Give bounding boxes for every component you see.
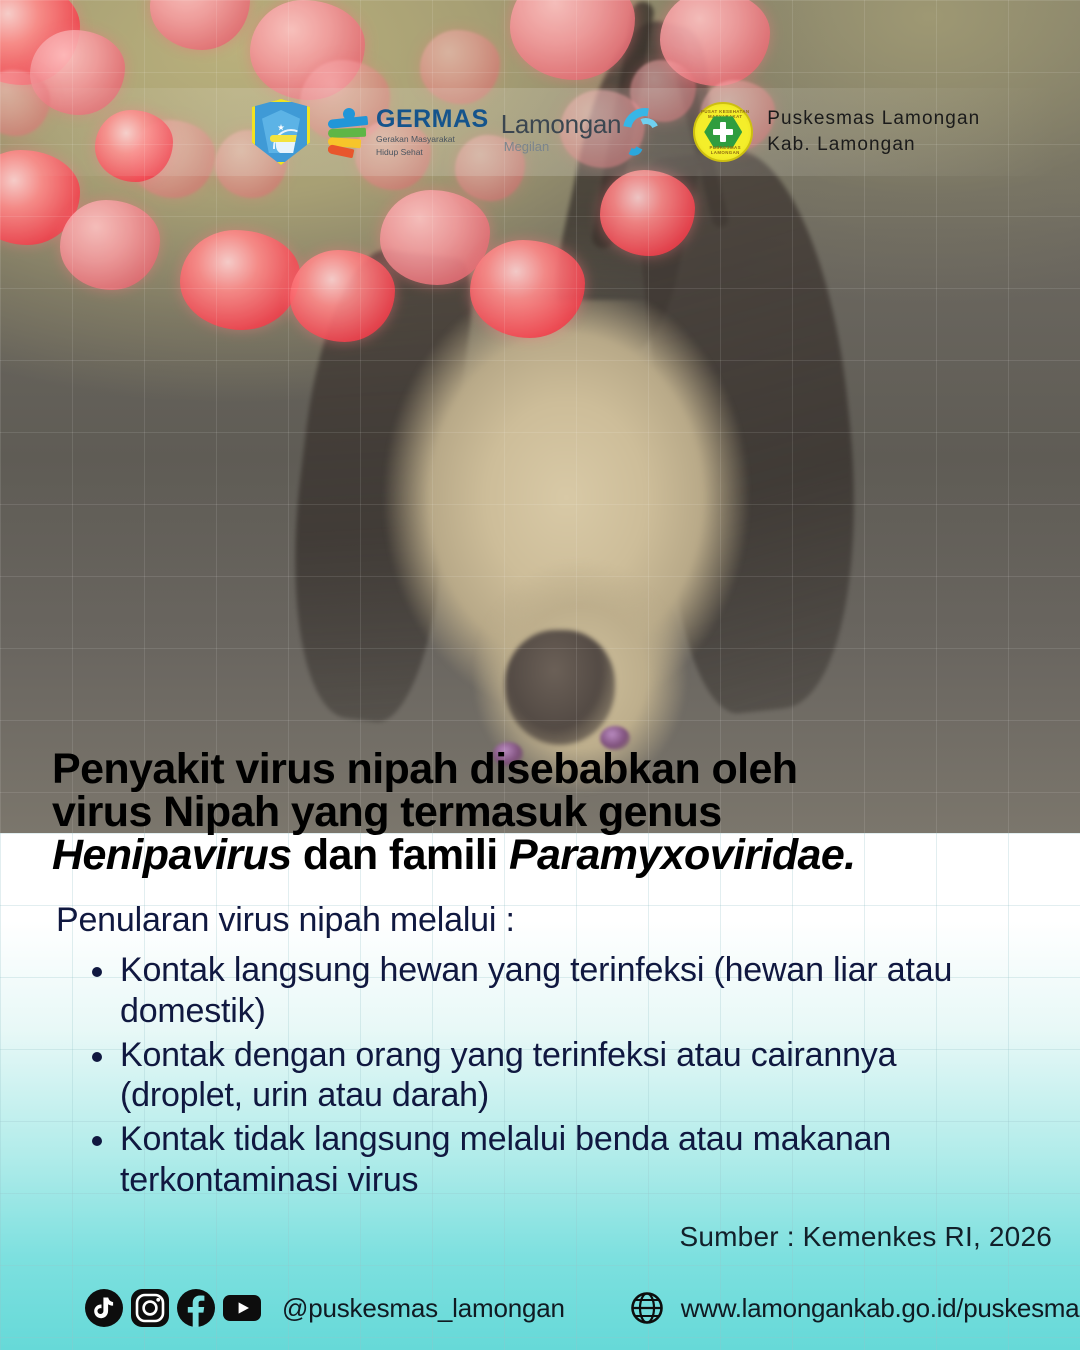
headline-line-3: Henipavirus dan famili Paramyxoviridae. [52, 834, 1042, 877]
puskesmas-seal-icon: PUSAT KESEHATAN MASYARAKAT PUSKESMAS LAM… [693, 102, 753, 162]
list-item: Kontak dengan orang yang terinfeksi atau… [86, 1035, 1016, 1117]
social-media-icons: @puskesmas_lamongan [84, 1288, 565, 1328]
page-title: Penyakit virus nipah disebabkan oleh vir… [52, 748, 1042, 877]
lamongan-regency-emblem-icon [252, 99, 310, 165]
germas-text-block: GERMAS Gerakan Masyarakat Hidup Sehat [376, 107, 489, 157]
facebook-icon[interactable] [176, 1288, 216, 1328]
megilan-wordmark: Lamongan [501, 111, 621, 137]
bat-snout [505, 630, 615, 745]
tiktok-icon[interactable] [84, 1288, 124, 1328]
germas-logo: GERMAS Gerakan Masyarakat Hidup Sehat [326, 107, 489, 157]
germas-tagline-line1: Gerakan Masyarakat [376, 134, 489, 145]
germas-figure-icon [326, 107, 370, 157]
footer-bar: @puskesmas_lamongan www.lamongankab.go.i… [0, 1266, 1080, 1350]
headline-line-2: virus Nipah yang termasuk genus [52, 791, 1042, 834]
transmission-lead: Penularan virus nipah melalui : [56, 901, 1080, 940]
virus-spike-illustration [0, 0, 1080, 380]
content-panel: Penularan virus nipah melalui : Kontak l… [0, 833, 1080, 1350]
megilan-subtext: Megilan [504, 140, 621, 153]
list-item: Kontak langsung hewan yang terinfeksi (h… [86, 950, 1016, 1032]
seal-hexagon [704, 115, 742, 149]
source-attribution: Sumber : Kemenkes RI, 2026 [680, 1221, 1053, 1253]
social-handle[interactable]: @puskesmas_lamongan [282, 1293, 565, 1324]
globe-icon [627, 1288, 667, 1328]
headline-line-1: Penyakit virus nipah disebabkan oleh [52, 748, 1042, 791]
genus-name: Henipavirus [52, 831, 292, 879]
emblem-ribbon [270, 135, 312, 142]
org-name-line2: Kab. Lamongan [767, 132, 980, 158]
infographic-poster: GERMAS Gerakan Masyarakat Hidup Sehat La… [0, 0, 1080, 1350]
lamongan-megilan-logo: Lamongan Megilan [501, 104, 675, 160]
germas-wordmark: GERMAS [376, 107, 489, 132]
megilan-swirl-icon [619, 104, 675, 160]
emblem-inner-shape [262, 110, 300, 153]
medical-cross-icon [712, 121, 734, 143]
website-group[interactable]: www.lamongankab.go.id/puskesmaslamongan [627, 1288, 1080, 1328]
headline-line3-mid: dan famili [292, 831, 509, 879]
megilan-text-block: Lamongan Megilan [501, 111, 621, 153]
website-url[interactable]: www.lamongankab.go.id/puskesmaslamongan [681, 1293, 1080, 1324]
instagram-icon[interactable] [130, 1288, 170, 1328]
header-logo-bar: GERMAS Gerakan Masyarakat Hidup Sehat La… [0, 96, 1080, 168]
list-item: Kontak tidak langsung melalui benda atau… [86, 1119, 1016, 1201]
transmission-list: Kontak langsung hewan yang terinfeksi (h… [86, 950, 1080, 1201]
organization-name-block: Puskesmas Lamongan Kab. Lamongan [767, 106, 980, 157]
seal-ring-bottom-text: PUSKESMAS LAMONGAN [695, 145, 755, 155]
content-inner: Penularan virus nipah melalui : Kontak l… [0, 833, 1080, 1201]
germas-tagline-line2: Hidup Sehat [376, 147, 489, 158]
family-name: Paramyxoviridae. [509, 831, 856, 879]
youtube-icon[interactable] [222, 1288, 262, 1328]
org-name-line1: Puskesmas Lamongan [767, 106, 980, 132]
